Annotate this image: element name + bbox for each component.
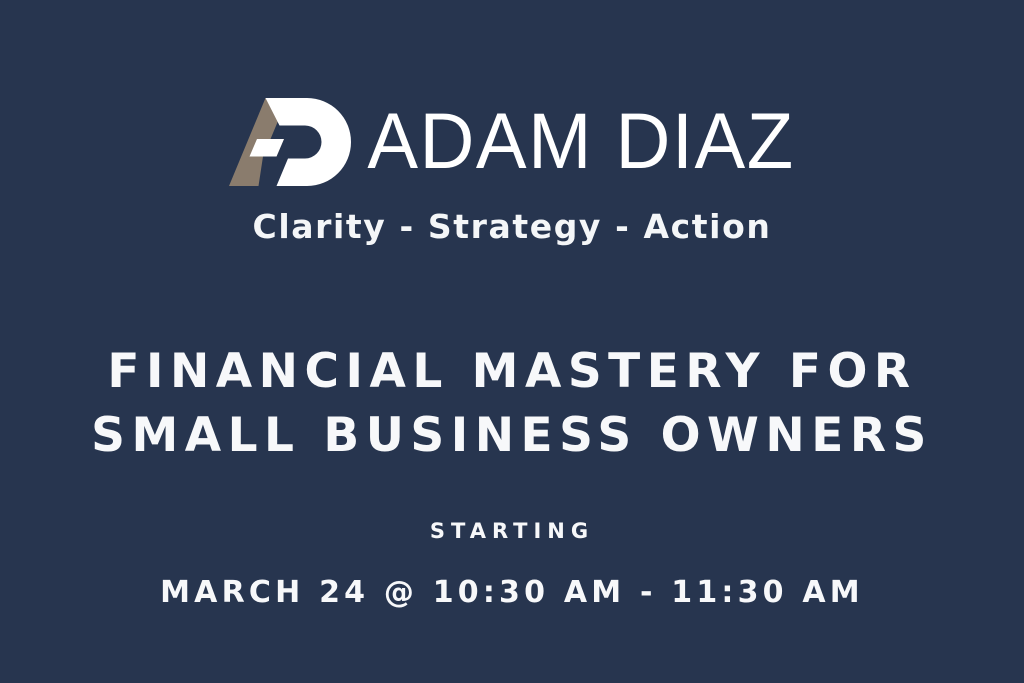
brand-tagline: Clarity - Strategy - Action xyxy=(0,207,1024,247)
ad-monogram-logo xyxy=(229,98,357,186)
page-title-line-2: SMALL BUSINESS OWNERS xyxy=(0,404,1024,468)
page-title-line-1: FINANCIAL MASTERY FOR xyxy=(0,340,1024,404)
schedule-datetime: MARCH 24 @ 10:30 AM - 11:30 AM xyxy=(0,575,1024,610)
schedule-label: STARTING xyxy=(0,519,1024,543)
event-announcement-slide: ADAM DIAZ Clarity - Strategy - Action FI… xyxy=(0,0,1024,683)
brand-lockup: ADAM DIAZ xyxy=(0,96,1024,188)
schedule-block: STARTING MARCH 24 @ 10:30 AM - 11:30 AM xyxy=(0,519,1024,610)
brand-name: ADAM DIAZ xyxy=(367,102,794,181)
page-title: FINANCIAL MASTERY FOR SMALL BUSINESS OWN… xyxy=(0,340,1024,468)
